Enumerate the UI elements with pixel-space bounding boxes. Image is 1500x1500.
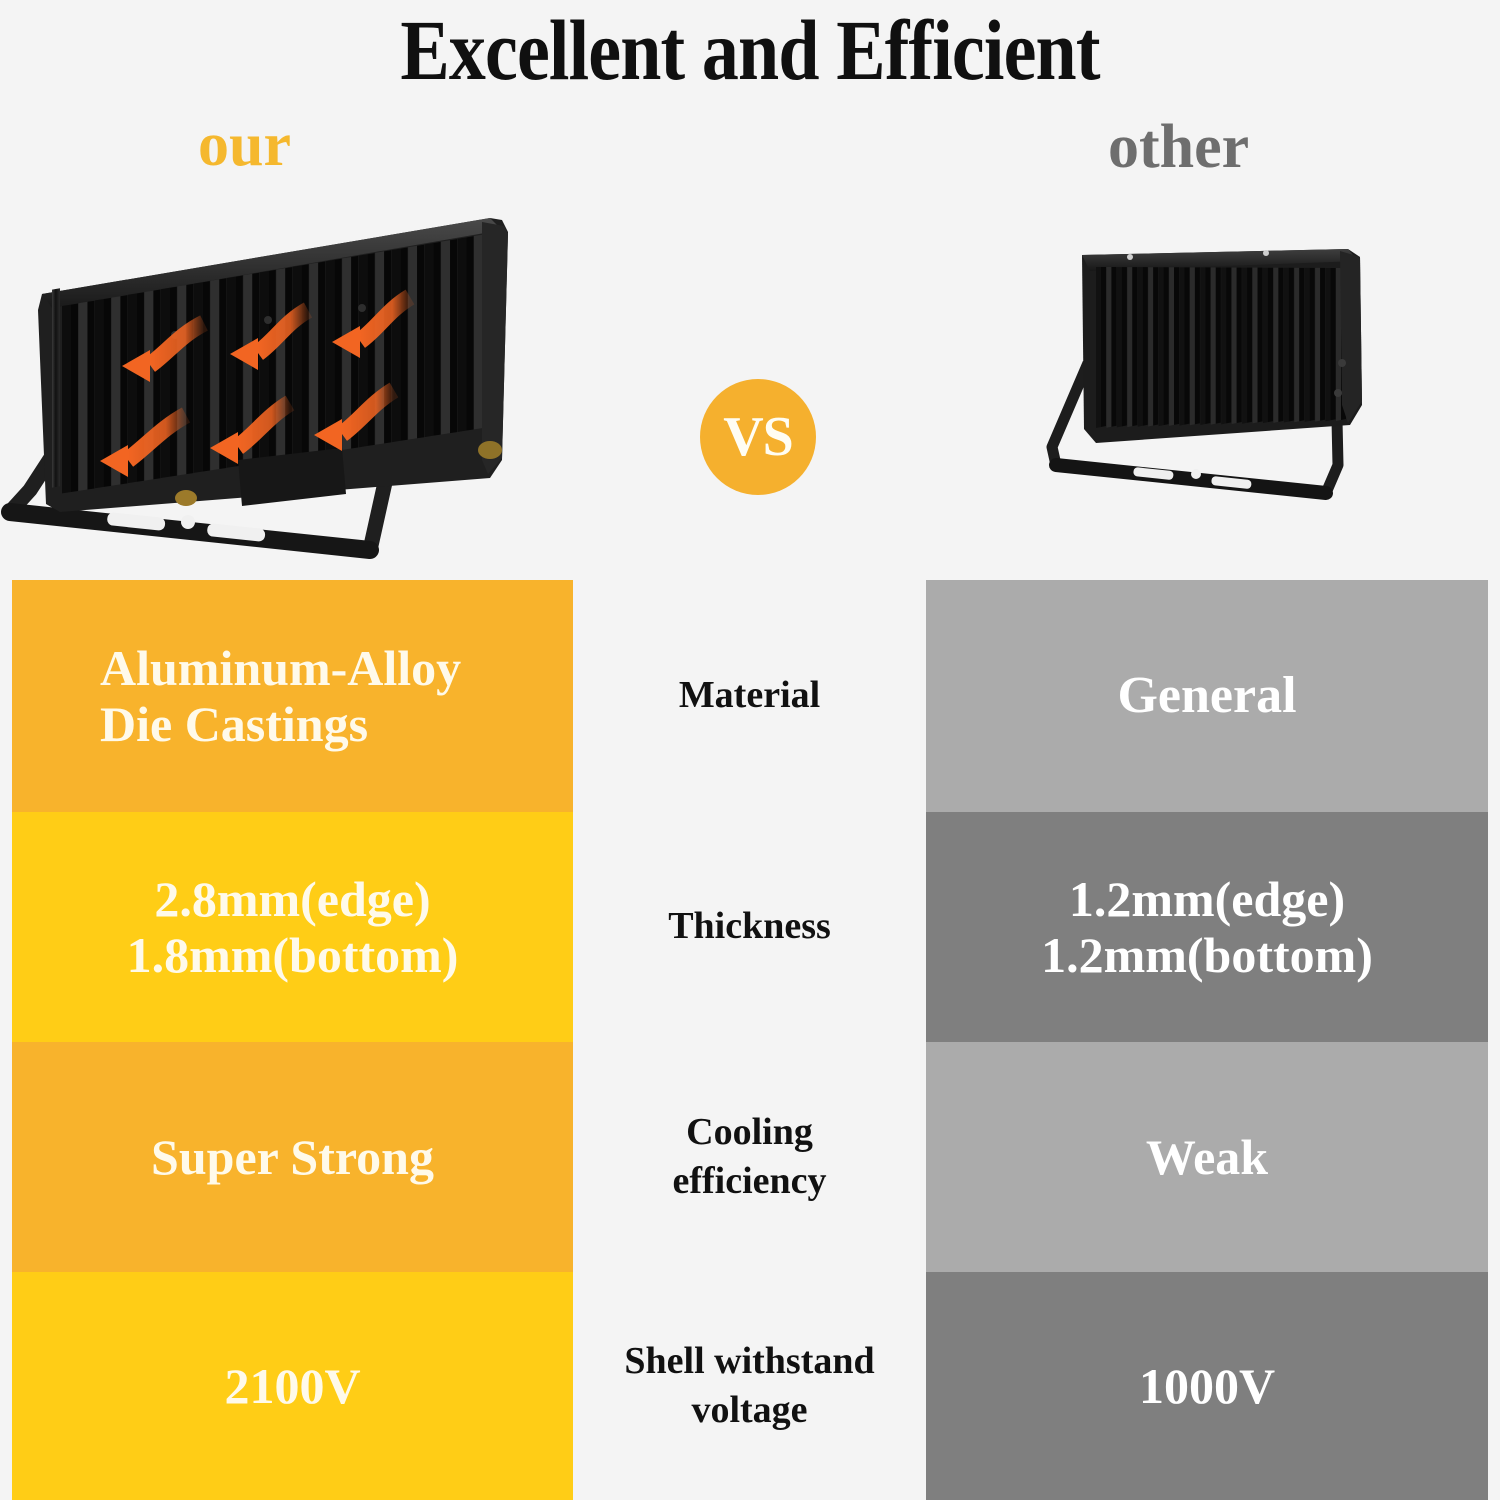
cell-other-thickness: 1.2mm(edge) 1.2mm(bottom) bbox=[926, 812, 1488, 1042]
floodlight-body-other bbox=[1082, 249, 1362, 443]
comparison-infographic: Excellent and Efficient our other bbox=[0, 0, 1500, 1500]
value-ours-voltage: 2100V bbox=[224, 1358, 360, 1414]
cell-other-cooling: Weak bbox=[926, 1042, 1488, 1272]
cell-ours-thickness: 2.8mm(edge) 1.8mm(bottom) bbox=[12, 812, 573, 1042]
value-ours-material: Aluminum-Alloy Die Castings bbox=[100, 640, 461, 752]
cell-label-thickness: Thickness bbox=[573, 812, 926, 1042]
label-thickness: Thickness bbox=[668, 902, 831, 951]
label-voltage: Shell withstand voltage bbox=[624, 1337, 874, 1436]
table-row: Aluminum-Alloy Die Castings Material Gen… bbox=[0, 580, 1500, 812]
cell-ours-voltage: 2100V bbox=[12, 1272, 573, 1500]
cell-other-material: General bbox=[926, 580, 1488, 812]
column-caption-other: other bbox=[1108, 116, 1249, 178]
cell-label-cooling: Cooling efficiency bbox=[573, 1042, 926, 1272]
vs-badge-label: VS bbox=[723, 409, 793, 465]
table-row: 2100V Shell withstand voltage 1000V bbox=[0, 1272, 1500, 1500]
value-ours-thickness: 2.8mm(edge) 1.8mm(bottom) bbox=[127, 871, 459, 983]
value-other-voltage: 1000V bbox=[1139, 1358, 1275, 1414]
value-ours-cooling: Super Strong bbox=[151, 1129, 434, 1185]
product-image-ours bbox=[0, 160, 550, 560]
cell-other-voltage: 1000V bbox=[926, 1272, 1488, 1500]
value-other-thickness: 1.2mm(edge) 1.2mm(bottom) bbox=[1041, 871, 1373, 983]
vs-badge: VS bbox=[700, 379, 816, 495]
table-row: 2.8mm(edge) 1.8mm(bottom) Thickness 1.2m… bbox=[0, 812, 1500, 1042]
label-material: Material bbox=[679, 671, 820, 720]
label-cooling: Cooling efficiency bbox=[672, 1108, 826, 1207]
cell-label-voltage: Shell withstand voltage bbox=[573, 1272, 926, 1500]
table-row: Super Strong Cooling efficiency Weak bbox=[0, 1042, 1500, 1272]
page-title: Excellent and Efficient bbox=[105, 4, 1395, 96]
cell-ours-material: Aluminum-Alloy Die Castings bbox=[12, 580, 573, 812]
cell-label-material: Material bbox=[573, 580, 926, 812]
product-image-other bbox=[1030, 215, 1430, 535]
cell-ours-cooling: Super Strong bbox=[12, 1042, 573, 1272]
value-other-cooling: Weak bbox=[1146, 1129, 1268, 1185]
comparison-table: Aluminum-Alloy Die Castings Material Gen… bbox=[0, 580, 1500, 1500]
floodlight-body-ours bbox=[38, 218, 508, 512]
value-other-material: General bbox=[1117, 667, 1296, 725]
